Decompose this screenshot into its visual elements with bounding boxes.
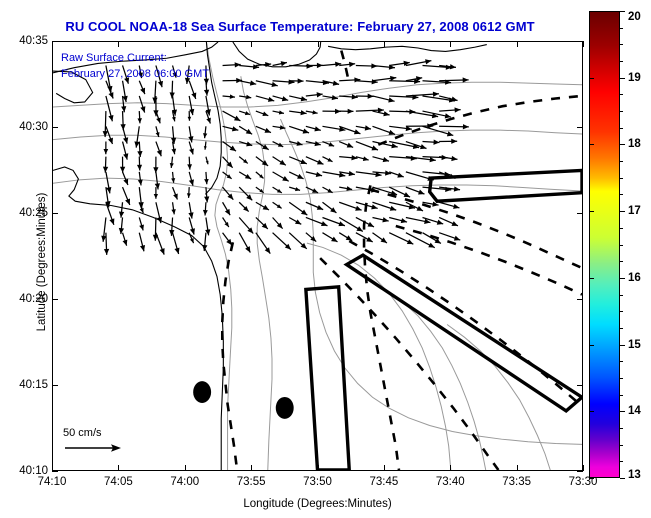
colorbar-tick-inner bbox=[589, 144, 594, 145]
x-axis-tick bbox=[118, 465, 119, 471]
colorbar-minor-tick bbox=[620, 295, 623, 296]
colorbar-minor-tick bbox=[620, 428, 623, 429]
y-axis-tick-right bbox=[577, 299, 583, 300]
colorbar-tick bbox=[620, 478, 625, 479]
colorbar-tick-label: 13 bbox=[628, 469, 641, 481]
colorbar-minor-tick bbox=[620, 378, 623, 379]
colorbar-tick-inner bbox=[589, 78, 594, 79]
annotation-current-time: February 27, 2008 06:00 GMT bbox=[61, 68, 209, 80]
y-axis-tick-right bbox=[577, 471, 583, 472]
x-axis-tick bbox=[384, 465, 385, 471]
colorbar-minor-tick bbox=[620, 311, 623, 312]
annotation-current-label: Raw Surface Current: bbox=[61, 52, 167, 64]
x-axis-tick-label: 73:55 bbox=[237, 476, 266, 488]
figure-root: RU COOL NOAA-18 Sea Surface Temperature:… bbox=[0, 0, 651, 518]
colorbar-minor-tick bbox=[620, 228, 623, 229]
x-axis-tick-label: 74:00 bbox=[170, 476, 199, 488]
x-axis-label: Longitude (Degrees:Minutes) bbox=[52, 498, 583, 510]
colorbar-tick-inner bbox=[589, 211, 594, 212]
vector-scale-label: 50 cm/s bbox=[63, 427, 125, 439]
colorbar-minor-tick bbox=[620, 111, 623, 112]
y-axis-tick bbox=[52, 41, 58, 42]
colorbar-minor-tick bbox=[620, 461, 623, 462]
colorbar-minor-tick bbox=[620, 361, 623, 362]
y-axis-tick-label: 40:10 bbox=[10, 465, 48, 477]
x-axis-tick-label: 73:40 bbox=[436, 476, 465, 488]
x-axis-tick bbox=[517, 465, 518, 471]
x-axis-tick-label: 73:35 bbox=[502, 476, 531, 488]
y-axis-tick-right bbox=[577, 41, 583, 42]
colorbar-tick bbox=[620, 211, 625, 212]
x-axis-tick-label: 73:50 bbox=[303, 476, 332, 488]
y-axis-label: Latitude (Degrees:Minutes) bbox=[36, 172, 48, 352]
y-axis-tick-label: 40:35 bbox=[10, 35, 48, 47]
x-axis-tick-top bbox=[517, 41, 518, 47]
colorbar-tick bbox=[620, 411, 625, 412]
x-axis-tick bbox=[185, 465, 186, 471]
corridor-box-group bbox=[306, 170, 582, 470]
y-axis-tick bbox=[52, 213, 58, 214]
colorbar-minor-tick bbox=[620, 395, 623, 396]
map-canvas bbox=[53, 42, 582, 470]
colorbar-minor-tick bbox=[620, 28, 623, 29]
colorbar-tick-label: 14 bbox=[628, 405, 641, 417]
colorbar-minor-tick bbox=[620, 194, 623, 195]
x-axis-tick-label: 74:05 bbox=[104, 476, 133, 488]
colorbar-tick bbox=[620, 278, 625, 279]
x-axis-tick bbox=[583, 465, 584, 471]
x-axis-tick bbox=[251, 465, 252, 471]
x-axis-tick-top bbox=[185, 41, 186, 47]
colorbar-tick-label: 16 bbox=[628, 272, 641, 284]
y-axis-tick bbox=[52, 385, 58, 386]
colorbar-tick bbox=[620, 78, 625, 79]
y-axis-tick bbox=[52, 299, 58, 300]
colorbar-tick-inner bbox=[589, 11, 594, 12]
x-axis-tick-top bbox=[583, 41, 584, 47]
x-axis-tick bbox=[450, 465, 451, 471]
x-axis-tick-top bbox=[118, 41, 119, 47]
x-axis-tick-top bbox=[384, 41, 385, 47]
y-axis-tick bbox=[52, 471, 58, 472]
vector-scale-arrow-icon bbox=[63, 441, 125, 455]
colorbar-minor-tick bbox=[620, 161, 623, 162]
colorbar-minor-tick bbox=[620, 178, 623, 179]
colorbar-tick-label: 19 bbox=[628, 72, 641, 84]
figure-title: RU COOL NOAA-18 Sea Surface Temperature:… bbox=[0, 19, 600, 34]
y-axis-tick-right bbox=[577, 385, 583, 386]
colorbar-minor-tick bbox=[620, 445, 623, 446]
colorbar-minor-tick bbox=[620, 61, 623, 62]
colorbar-tick-label: 17 bbox=[628, 205, 641, 217]
station-marker-group bbox=[193, 381, 294, 419]
vector-scale-legend: 50 cm/s bbox=[63, 427, 125, 460]
colorbar-tick bbox=[620, 144, 625, 145]
colorbar-tick-label: 20 bbox=[628, 11, 641, 23]
colorbar-tick-inner bbox=[589, 278, 594, 279]
colorbar[interactable]: 2019181716151413 bbox=[589, 11, 620, 478]
colorbar-minor-tick bbox=[620, 328, 623, 329]
x-axis-tick-label: 74:10 bbox=[38, 476, 67, 488]
colorbar-tick-inner bbox=[589, 411, 594, 412]
x-axis-tick-top bbox=[318, 41, 319, 47]
y-axis-tick-right bbox=[577, 127, 583, 128]
x-axis-tick-label: 73:45 bbox=[369, 476, 398, 488]
colorbar-minor-tick bbox=[620, 128, 623, 129]
colorbar-minor-tick bbox=[620, 44, 623, 45]
colorbar-tick-inner bbox=[589, 345, 594, 346]
y-axis-tick-label: 40:30 bbox=[10, 121, 48, 133]
colorbar-tick bbox=[620, 11, 625, 12]
map-axes[interactable]: Raw Surface Current: February 27, 2008 0… bbox=[52, 41, 583, 471]
current-vector-field bbox=[101, 59, 469, 255]
colorbar-gradient bbox=[589, 11, 620, 478]
y-axis-tick-right bbox=[577, 213, 583, 214]
y-axis-tick bbox=[52, 127, 58, 128]
x-axis-tick-top bbox=[251, 41, 252, 47]
colorbar-minor-tick bbox=[620, 245, 623, 246]
x-axis-tick-top bbox=[450, 41, 451, 47]
colorbar-minor-tick bbox=[620, 261, 623, 262]
y-axis-tick-label: 40:15 bbox=[10, 379, 48, 391]
colorbar-tick-inner bbox=[589, 478, 594, 479]
colorbar-tick bbox=[620, 345, 625, 346]
colorbar-tick-label: 15 bbox=[628, 339, 641, 351]
colorbar-tick-label: 18 bbox=[628, 138, 641, 150]
colorbar-minor-tick bbox=[620, 94, 623, 95]
x-axis-tick bbox=[318, 465, 319, 471]
